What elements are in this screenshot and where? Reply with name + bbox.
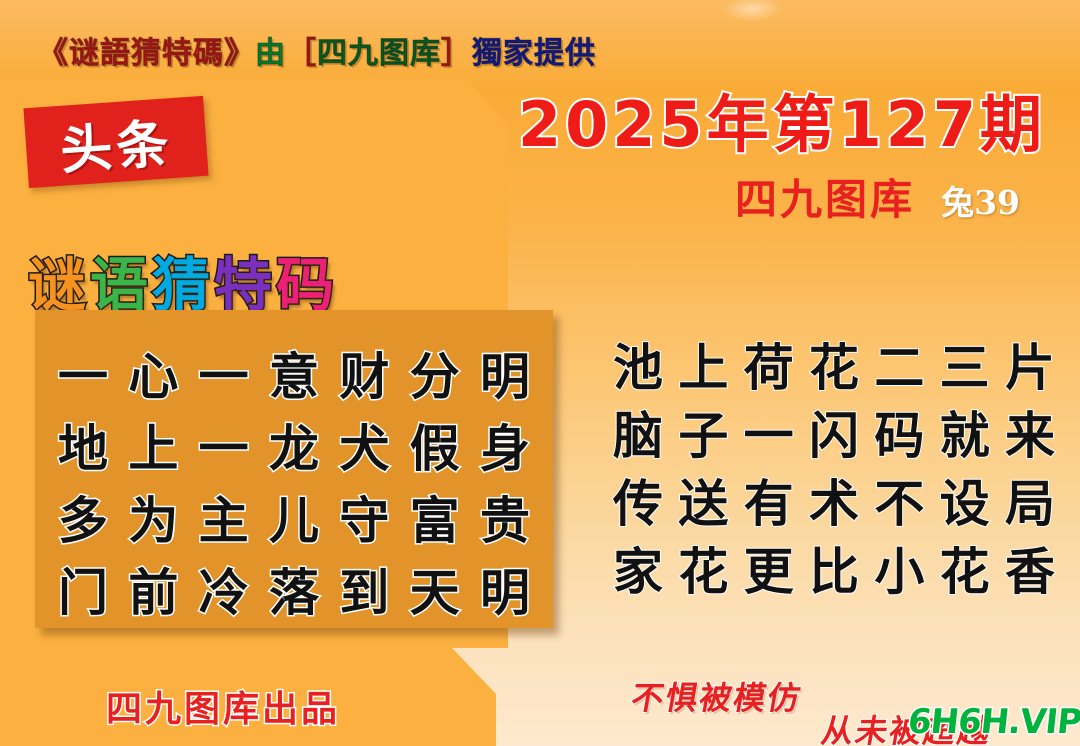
riddle-char: 落 — [262, 553, 326, 625]
poem-block: 池上荷花二三片 脑子一闪码就来 传送有术不设局 家花更比小花香 — [608, 330, 1060, 602]
poem-char: 香 — [1000, 532, 1060, 604]
poem-char: 来 — [1000, 396, 1060, 468]
poem-char: 家 — [608, 532, 668, 604]
poem-char: 上 — [673, 328, 733, 400]
poem-char: 一 — [739, 396, 799, 468]
poem-char: 不 — [869, 464, 929, 536]
riddle-char: 上 — [121, 409, 185, 481]
riddle-char: 贵 — [473, 481, 537, 553]
riddle-char: 犬 — [332, 409, 396, 481]
riddle-char: 一 — [51, 337, 115, 409]
poster-root: 《谜語猜特碼》由［四九图库］獨家提供 头条 2025年第127期 四九图库 兔3… — [0, 0, 1080, 746]
poem-char: 脑 — [608, 396, 668, 468]
poem-char: 小 — [869, 532, 929, 604]
riddle-char: 门 — [51, 553, 115, 625]
riddle-char: 明 — [473, 553, 537, 625]
poem-char: 送 — [673, 464, 733, 536]
zodiac-badge: 兔39 — [941, 176, 1020, 224]
poem-char: 码 — [869, 396, 929, 468]
footer-producer: 四九图库出品 — [106, 680, 340, 732]
riddle-char: 心 — [121, 337, 185, 409]
subtitle-char-5: 码 — [276, 251, 338, 319]
riddle-box: 一心一意财分明 地上一龙犬假身 多为主儿守富贵 门前冷落到天明 — [35, 310, 553, 628]
poem-char: 花 — [935, 532, 995, 604]
riddle-char: 天 — [403, 553, 467, 625]
header-segment-exclusive: 獨家提供 — [472, 36, 596, 71]
riddle-char: 冷 — [192, 553, 256, 625]
poem-line: 传送有术不设局 — [608, 466, 1060, 534]
riddle-line: 一心一意财分明 — [51, 342, 537, 404]
poem-char: 有 — [739, 464, 799, 536]
poem-line: 脑子一闪码就来 — [608, 398, 1060, 466]
subtitle-char-3: 猜 — [152, 251, 214, 319]
brand-row: 四九图库 兔39 — [735, 166, 1020, 227]
riddle-char: 意 — [262, 337, 326, 409]
riddle-line: 多为主儿守富贵 — [51, 486, 537, 548]
riddle-char: 主 — [192, 481, 256, 553]
riddle-char: 分 — [403, 337, 467, 409]
poem-char: 就 — [935, 396, 995, 468]
riddle-char: 明 — [473, 337, 537, 409]
riddle-char: 多 — [51, 481, 115, 553]
brand-name: 四九图库 — [735, 166, 915, 227]
riddle-char: 一 — [192, 337, 256, 409]
poem-char: 设 — [935, 464, 995, 536]
poem-char: 更 — [739, 532, 799, 604]
poem-char: 荷 — [739, 328, 799, 400]
header-segment-brand: 四九图库 — [317, 36, 441, 71]
header-segment-bracket-open: ［ — [286, 36, 317, 71]
subtitle-char-4: 特 — [214, 251, 276, 319]
poem-char: 池 — [608, 328, 668, 400]
top-watermark-smudge — [721, 0, 784, 22]
subtitle-char-2: 语 — [90, 251, 152, 319]
subtitle-char-1: 谜 — [28, 251, 90, 319]
header-tagline: 《谜語猜特碼》由［四九图库］獨家提供 — [38, 28, 596, 72]
riddle-char: 龙 — [262, 409, 326, 481]
poem-char: 局 — [1000, 464, 1060, 536]
issue-title: 2025年第127期 — [518, 74, 1046, 164]
riddle-char: 到 — [332, 553, 396, 625]
poem-char: 比 — [804, 532, 864, 604]
header-segment-title: 《谜語猜特碼》 — [38, 36, 255, 71]
poem-char: 花 — [673, 532, 733, 604]
riddle-char: 假 — [403, 409, 467, 481]
riddle-char: 富 — [403, 481, 467, 553]
riddle-char: 为 — [121, 481, 185, 553]
poem-char: 子 — [673, 396, 733, 468]
poem-char: 三 — [935, 328, 995, 400]
site-watermark: 6H6H.VIP — [906, 702, 1080, 742]
poem-char: 片 — [1000, 328, 1060, 400]
riddle-char: 身 — [473, 409, 537, 481]
riddle-line: 门前冷落到天明 — [51, 558, 537, 620]
poem-char: 术 — [804, 464, 864, 536]
poem-line: 池上荷花二三片 — [608, 330, 1060, 398]
poem-char: 花 — [804, 328, 864, 400]
riddle-char: 财 — [332, 337, 396, 409]
issue-title-text: 2025年第127期 — [518, 88, 1046, 161]
poem-char: 传 — [608, 464, 668, 536]
riddle-char: 守 — [332, 481, 396, 553]
riddle-char: 儿 — [262, 481, 326, 553]
riddle-char: 地 — [51, 409, 115, 481]
headline-badge-label: 头条 — [58, 101, 175, 184]
footer-slogan-a: 不惧被模仿 — [628, 673, 806, 719]
header-segment-bracket-close: ］ — [441, 36, 472, 71]
headline-badge[interactable]: 头条 — [23, 96, 208, 188]
riddle-char: 一 — [192, 409, 256, 481]
riddle-char: 前 — [121, 553, 185, 625]
header-segment-by: 由 — [255, 36, 286, 71]
riddle-line: 地上一龙犬假身 — [51, 414, 537, 476]
poem-char: 二 — [869, 328, 929, 400]
poem-line: 家花更比小花香 — [608, 534, 1060, 602]
poem-char: 闪 — [804, 396, 864, 468]
